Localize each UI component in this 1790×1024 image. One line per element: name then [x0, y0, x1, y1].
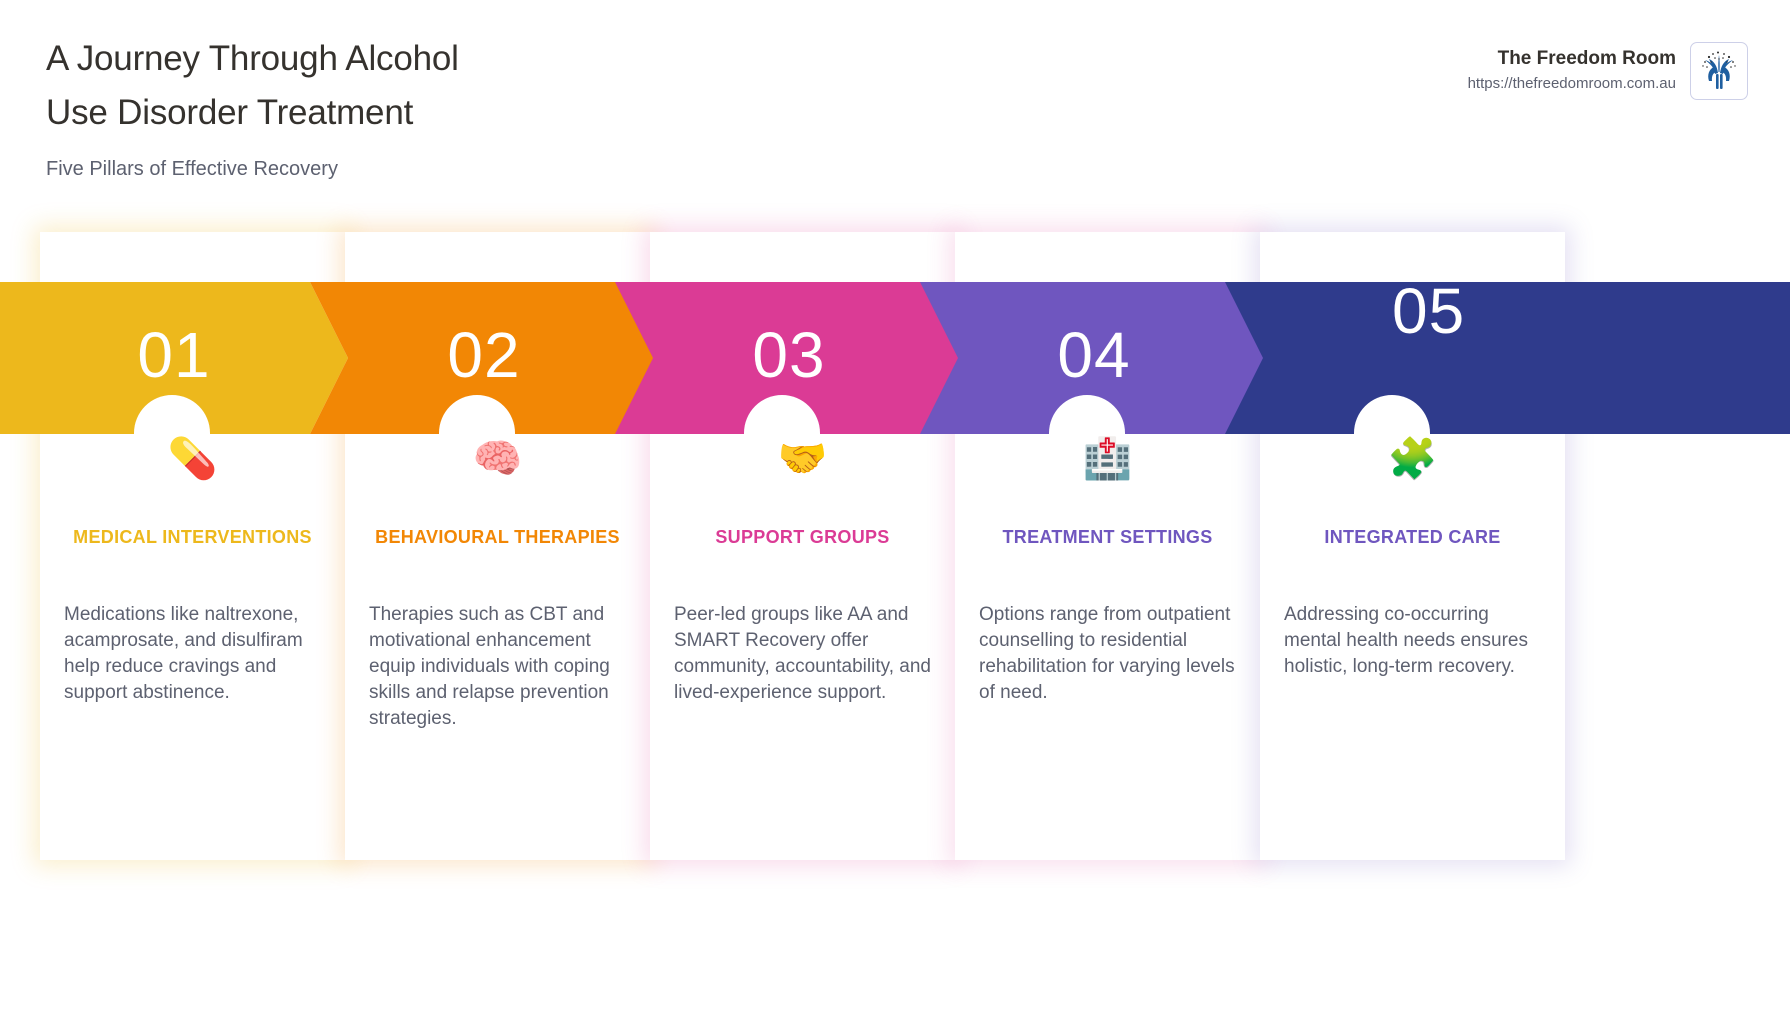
puzzle-piece-icon: 🧩	[1260, 437, 1565, 481]
step-card-body: Therapies such as CBT and motivational e…	[369, 602, 630, 732]
brand-text: The Freedom Room https://thefreedomroom.…	[1468, 47, 1676, 95]
chevron-number: 02	[447, 323, 520, 387]
step-card-body: Options range from outpatient counsellin…	[979, 602, 1240, 706]
tree-hands-logo-icon	[1690, 42, 1748, 100]
step-card-body: Addressing co-occurring mental health ne…	[1284, 602, 1545, 680]
header-title-block: A Journey Through Alcohol Use Disorder T…	[46, 32, 826, 182]
handshake-icon: 🤝	[650, 437, 955, 481]
chevron-notch	[1049, 395, 1125, 435]
step-card-body: Peer-led groups like AA and SMART Recove…	[674, 602, 935, 706]
hospital-icon: 🏥	[955, 437, 1260, 481]
chevron-step-3[interactable]: 03	[615, 282, 963, 434]
step-card-heading: TREATMENT SETTINGS	[979, 524, 1236, 550]
chevron-notch	[134, 395, 210, 435]
brain-icon: 🧠	[345, 437, 650, 481]
chevron-ribbon: 01 02 03 04 05	[0, 282, 1790, 434]
step-card-heading: BEHAVIOURAL THERAPIES	[369, 524, 626, 550]
chevron-step-2[interactable]: 02	[310, 282, 658, 434]
chevron-number: 01	[137, 323, 210, 387]
chevron-notch	[439, 395, 515, 435]
chevron-number: 03	[752, 323, 825, 387]
step-card-heading: INTEGRATED CARE	[1284, 524, 1541, 550]
chevron-notch	[1354, 395, 1430, 435]
step-card-body: Medications like naltrexone, acamprosate…	[64, 602, 325, 706]
step-card-heading: MEDICAL INTERVENTIONS	[64, 524, 321, 550]
pill-icon: 💊	[40, 437, 345, 481]
page-title: A Journey Through Alcohol Use Disorder T…	[46, 32, 826, 140]
brand-block: The Freedom Room https://thefreedomroom.…	[1468, 42, 1748, 100]
infographic-page: A Journey Through Alcohol Use Disorder T…	[0, 0, 1790, 1024]
chevron-step-1[interactable]: 01	[0, 282, 348, 434]
step-card-heading: SUPPORT GROUPS	[674, 524, 931, 550]
page-subtitle: Five Pillars of Effective Recovery	[46, 156, 826, 182]
brand-url[interactable]: https://thefreedomroom.com.au	[1468, 73, 1676, 95]
chevron-number: 05	[1392, 279, 1465, 343]
chevron-step-4[interactable]: 04	[920, 282, 1268, 434]
chevron-number: 04	[1057, 323, 1130, 387]
chevron-step-5[interactable]: 05	[1225, 282, 1790, 434]
chevron-notch	[744, 395, 820, 435]
brand-name: The Freedom Room	[1468, 47, 1676, 71]
